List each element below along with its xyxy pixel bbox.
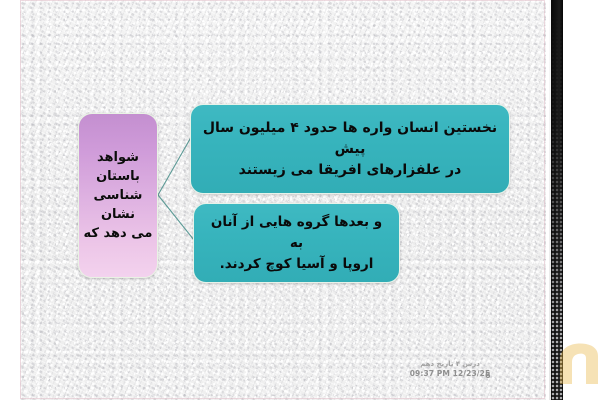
slide-viewer: شواهد باستان شناسی نشان می دهد که نخستین… bbox=[0, 0, 600, 400]
yellow-swoosh-watermark bbox=[556, 338, 600, 386]
purple-summary-box[interactable]: شواهد باستان شناسی نشان می دهد که bbox=[78, 113, 158, 278]
teal-box-2-text: و بعدها گروه هایی از آنان به اروپا و آسی… bbox=[194, 212, 399, 275]
teal-statement-box-1[interactable]: نخستین انسان واره ها حدود ۴ میلیون سال پ… bbox=[190, 104, 510, 194]
slide-page-number: 6 bbox=[485, 371, 491, 380]
teal-statement-box-2[interactable]: و بعدها گروه هایی از آنان به اروپا و آسی… bbox=[193, 203, 400, 283]
footer-lesson-title: درس ۴ تاریخ دهم bbox=[395, 360, 505, 369]
teal-box-1-text: نخستین انسان واره ها حدود ۴ میلیون سال پ… bbox=[191, 118, 509, 181]
purple-box-text: شواهد باستان شناسی نشان می دهد که bbox=[84, 148, 153, 243]
